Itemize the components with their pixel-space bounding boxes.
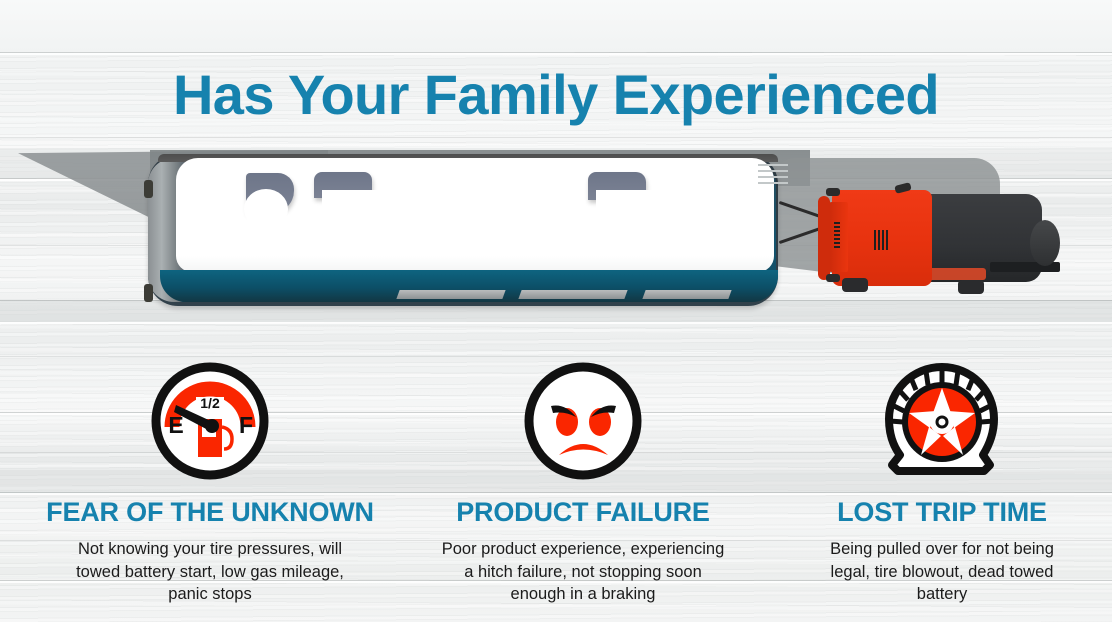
truck-spare-tire xyxy=(1030,220,1060,266)
truck-wheel xyxy=(958,280,984,294)
rv-towing-illustration xyxy=(0,140,1112,340)
trailer-corner-jack xyxy=(144,284,153,302)
feature-title: LOST TRIP TIME xyxy=(772,496,1112,528)
trailer-window xyxy=(588,172,646,200)
feature-title: PRODUCT FAILURE xyxy=(412,496,754,528)
svg-text:F: F xyxy=(239,412,253,438)
truck-front-bumper xyxy=(818,196,830,280)
feature-title: FEAR OF THE UNKNOWN xyxy=(8,496,412,528)
trailer-corner-jack xyxy=(144,180,153,198)
trailer-skirt-vent xyxy=(518,290,627,299)
feature-column-fear-of-the-unknown: 1/2 E F FEAR OF THE UNKNOWN Not knowing … xyxy=(8,352,412,606)
feature-column-product-failure: PRODUCT FAILURE Poor product experience,… xyxy=(412,352,754,606)
truck-side-mirror xyxy=(826,188,840,196)
flat-tire-icon xyxy=(772,352,1112,490)
trailer-window xyxy=(314,172,372,198)
feature-body: Being pulled over for not being legal, t… xyxy=(815,538,1069,606)
trailer-roof-ladder xyxy=(758,162,790,184)
feature-body: Poor product experience, experiencing a … xyxy=(435,538,731,606)
trailer-skirt-vent xyxy=(396,290,505,299)
pickup-truck xyxy=(790,182,1058,312)
fuel-gauge-empty-icon: 1/2 E F xyxy=(8,352,412,490)
infographic-canvas: Has Your Family Experienced xyxy=(0,0,1112,622)
truck-vent-detail xyxy=(834,222,840,250)
trailer-window xyxy=(246,173,294,213)
feature-body: Not knowing your tire pressures, will to… xyxy=(74,538,346,606)
truck-side-mirror xyxy=(826,274,840,282)
page-title: Has Your Family Experienced xyxy=(0,62,1112,128)
trailer-skirt-vent xyxy=(642,290,731,299)
feature-columns: 1/2 E F FEAR OF THE UNKNOWN Not knowing … xyxy=(0,352,1112,622)
truck-roof-detail xyxy=(874,230,890,250)
feature-column-lost-trip-time: LOST TRIP TIME Being pulled over for not… xyxy=(772,352,1112,606)
truck-wheel xyxy=(842,278,868,292)
svg-text:E: E xyxy=(168,412,183,438)
angry-face-icon xyxy=(412,352,754,490)
svg-text:1/2: 1/2 xyxy=(200,395,220,411)
